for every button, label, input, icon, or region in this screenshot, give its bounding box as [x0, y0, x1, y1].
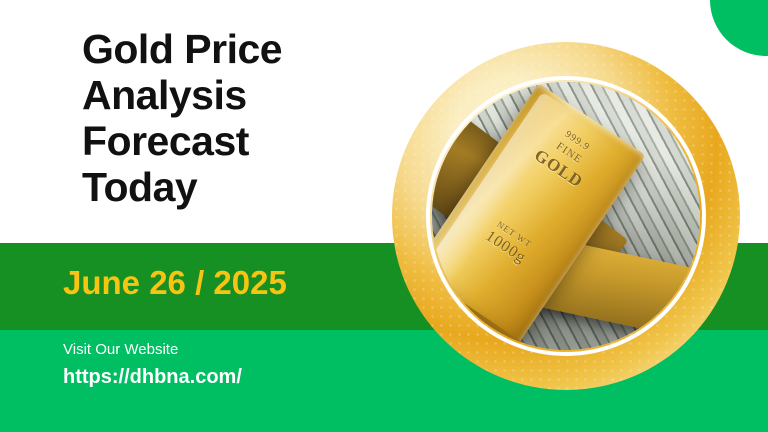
date-label: June 26 / 2025 — [63, 264, 287, 302]
website-url-link[interactable]: https://dhbna.com/ — [63, 366, 242, 389]
headline-line-1: Gold Price — [82, 26, 382, 72]
headline-line-4: Today — [82, 164, 382, 210]
gold-price-banner: Gold Price Analysis Forecast Today June … — [0, 0, 768, 432]
page-title: Gold Price Analysis Forecast Today — [82, 26, 382, 210]
headline-line-2: Analysis — [82, 72, 382, 118]
gold-bar-photo: 999.9 FINE GOLD NET WT 1000g — [432, 82, 700, 350]
top-right-corner-accent — [710, 0, 768, 56]
visit-website-label: Visit Our Website — [63, 341, 178, 358]
headline-line-3: Forecast — [82, 118, 382, 164]
